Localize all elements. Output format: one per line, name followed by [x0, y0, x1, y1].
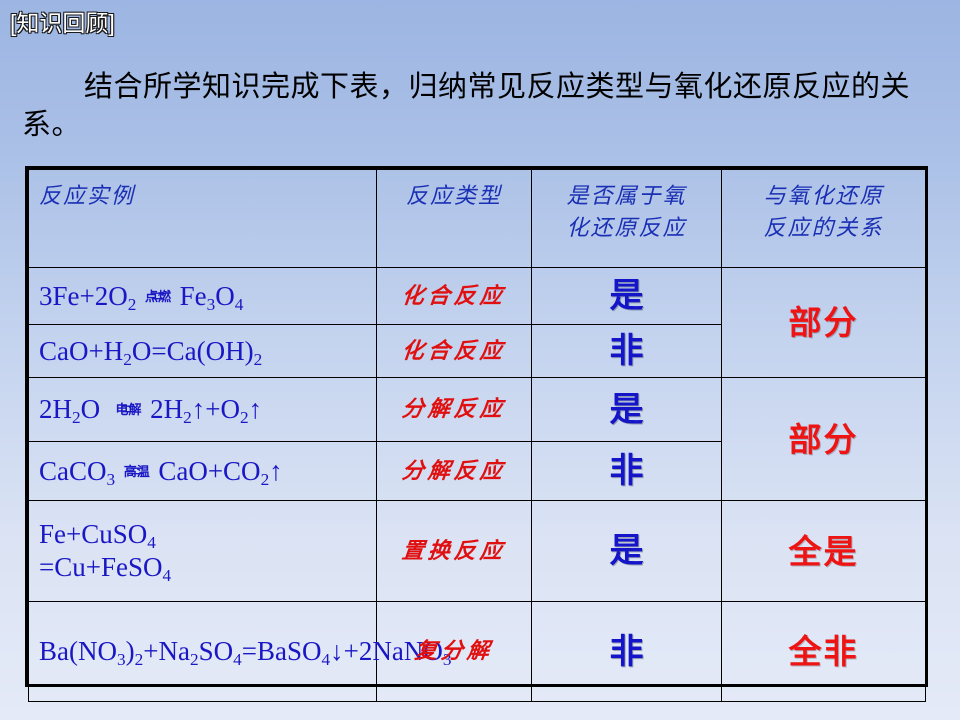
- cell-is-redox: 非: [532, 442, 722, 501]
- header-cell-type: 反应类型: [377, 170, 532, 268]
- header-label-type: 反应类型: [383, 180, 525, 212]
- relation-label: 部分: [728, 306, 919, 339]
- slide-label: [知识回顾]: [10, 12, 115, 35]
- reaction-table: 反应实例 反应类型 是否属于氧 化还原反应 与氧化还原 反应的关系 3Fe+2O…: [28, 169, 926, 702]
- cell-reaction-type: 复分解: [377, 602, 532, 702]
- cell-is-redox: 是: [532, 501, 722, 602]
- is-redox-label: 非: [538, 635, 715, 669]
- header-cell-relation: 与氧化还原 反应的关系: [722, 170, 926, 268]
- cell-relation: 全非: [722, 602, 926, 702]
- relation-label: 全非: [728, 635, 919, 668]
- reaction-type-label: 复分解: [382, 639, 527, 663]
- cell-is-redox: 是: [532, 378, 722, 442]
- table-header-row: 反应实例 反应类型 是否属于氧 化还原反应 与氧化还原 反应的关系: [29, 170, 926, 268]
- reaction-type-label: 化合反应: [382, 339, 527, 363]
- header-cell-example: 反应实例: [29, 170, 377, 268]
- table-row: 2H2O 电解=2H2↑+O2↑ 分解反应 是 部分: [29, 378, 926, 442]
- cell-formula: Fe+CuSO4=Cu+FeSO4: [29, 501, 377, 602]
- cell-relation: 部分: [722, 378, 926, 501]
- reaction-type-label: 分解反应: [382, 459, 527, 483]
- table-row: Fe+CuSO4=Cu+FeSO4 置换反应 是 全是: [29, 501, 926, 602]
- formula-text: 2H2O 电解=2H2↑+O2↑: [35, 393, 370, 426]
- cell-formula: 2H2O 电解=2H2↑+O2↑: [29, 378, 377, 442]
- is-redox-label: 非: [538, 334, 715, 368]
- formula-text: Ba(NO3)2+Na2SO4=BaSO4↓+2NaNO3: [35, 635, 370, 668]
- header-label-redox-line1: 是否属于氧: [538, 180, 715, 212]
- cell-reaction-type: 分解反应: [377, 378, 532, 442]
- is-redox-label: 非: [538, 454, 715, 488]
- relation-label: 全是: [728, 535, 919, 568]
- cell-relation: 部分: [722, 268, 926, 378]
- reaction-type-label: 分解反应: [382, 397, 527, 421]
- intro-paragraph: 结合所学知识完成下表，归纳常见反应类型与氧化还原反应的关系。: [22, 68, 927, 145]
- reaction-table-container: 反应实例 反应类型 是否属于氧 化还原反应 与氧化还原 反应的关系 3Fe+2O…: [25, 166, 928, 687]
- table-row: Ba(NO3)2+Na2SO4=BaSO4↓+2NaNO3 复分解 非 全非: [29, 602, 926, 702]
- formula-text: CaO+H2O=Ca(OH)2: [35, 335, 370, 368]
- is-redox-label: 是: [538, 534, 715, 568]
- cell-is-redox: 非: [532, 602, 722, 702]
- relation-label: 部分: [728, 423, 919, 456]
- cell-is-redox: 是: [532, 268, 722, 325]
- cell-formula: Ba(NO3)2+Na2SO4=BaSO4↓+2NaNO3: [29, 602, 377, 702]
- cell-formula: 3Fe+2O2点燃=Fe3O4: [29, 268, 377, 325]
- formula-text: CaCO3高温=CaO+CO2↑: [35, 455, 370, 488]
- formula-text: 3Fe+2O2点燃=Fe3O4: [35, 280, 370, 313]
- cell-reaction-type: 分解反应: [377, 442, 532, 501]
- cell-reaction-type: 置换反应: [377, 501, 532, 602]
- reaction-type-label: 置换反应: [382, 539, 527, 563]
- header-label-example: 反应实例: [35, 180, 370, 212]
- header-cell-redox: 是否属于氧 化还原反应: [532, 170, 722, 268]
- formula-text: Fe+CuSO4=Cu+FeSO4: [35, 518, 370, 584]
- header-label-relation-line2: 反应的关系: [728, 212, 919, 244]
- cell-formula: CaCO3高温=CaO+CO2↑: [29, 442, 377, 501]
- cell-is-redox: 非: [532, 325, 722, 378]
- header-label-redox-line2: 化还原反应: [538, 212, 715, 244]
- is-redox-label: 是: [538, 393, 715, 427]
- header-label-relation-line1: 与氧化还原: [728, 180, 919, 212]
- cell-reaction-type: 化合反应: [377, 268, 532, 325]
- cell-relation: 全是: [722, 501, 926, 602]
- is-redox-label: 是: [538, 279, 715, 313]
- table-row: 3Fe+2O2点燃=Fe3O4 化合反应 是 部分: [29, 268, 926, 325]
- cell-reaction-type: 化合反应: [377, 325, 532, 378]
- cell-formula: CaO+H2O=Ca(OH)2: [29, 325, 377, 378]
- reaction-type-label: 化合反应: [382, 284, 527, 308]
